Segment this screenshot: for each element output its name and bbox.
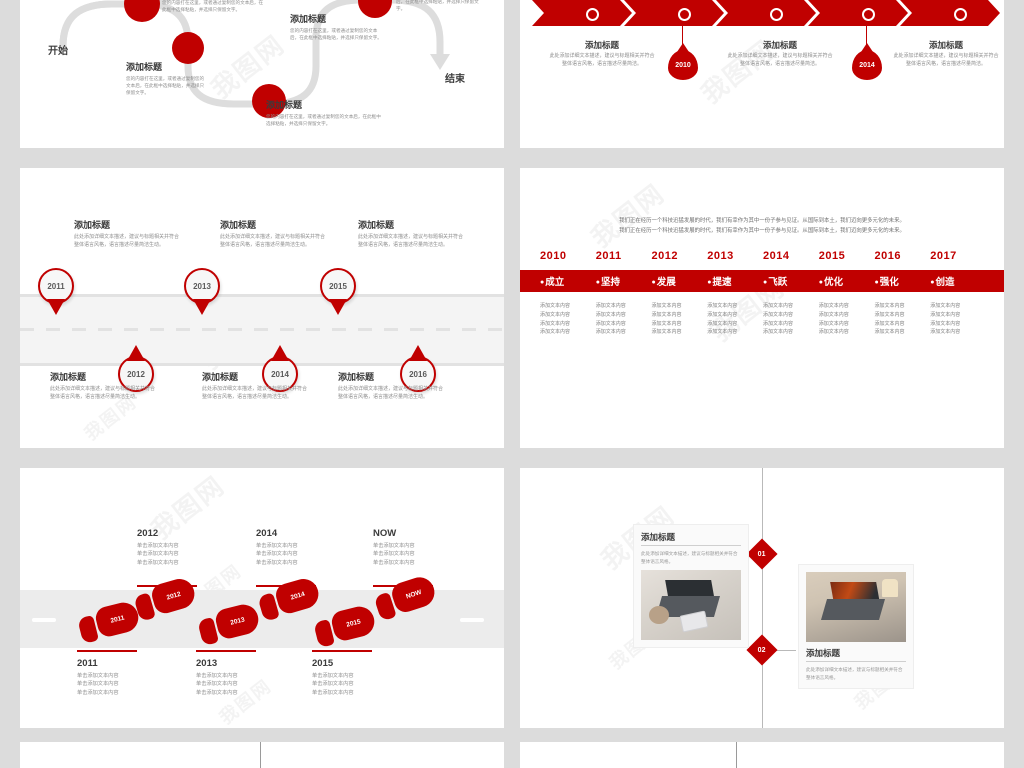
chevron-circle-icon-3 xyxy=(770,8,783,21)
content-line: 单击添加文本内容 xyxy=(312,680,376,688)
footprint-bottom-item-3[interactable]: 2015 单击添加文本内容 单击添加文本内容 单击添加文本内容 xyxy=(312,658,376,697)
node-number: 01 xyxy=(758,550,766,557)
content-line: 单击添加文本内容 xyxy=(196,672,260,680)
content-line: 添加文本内容 xyxy=(540,320,596,329)
footprint-label: 2015 xyxy=(346,618,362,628)
snake-item-body: 您的内容打在这里，或者通过复制您的文本后，在此框中选择粘贴，并选择只保留文字。 xyxy=(266,113,384,127)
content-line: 添加文本内容 xyxy=(819,311,875,320)
snake-item-title: 添加标题 xyxy=(290,14,382,25)
snake-item-body: 您的内容打在这里，或者通过复制您的文本后，在此框中选择粘贴，并选择只保留文字。 xyxy=(290,27,382,41)
content-line: 添加文本内容 xyxy=(652,328,708,337)
laptop-keyboard xyxy=(821,599,885,620)
content-line: 单击添加文本内容 xyxy=(256,559,320,567)
road-bottom-item-1[interactable]: 添加标题 此处添加详细文本描述，建议与标题相关并符合整体语言风格，语言描述尽量简… xyxy=(50,372,156,401)
pin-year-label: 2011 xyxy=(47,282,64,291)
content-column[interactable]: 添加文本内容 添加文本内容 添加文本内容 添加文本内容 xyxy=(596,302,652,337)
timeline-node-2[interactable] xyxy=(172,32,204,64)
content-line: 单击添加文本内容 xyxy=(196,689,260,697)
vertical-divider xyxy=(736,742,737,768)
content-column[interactable]: 添加文本内容 添加文本内容 添加文本内容 添加文本内容 xyxy=(819,302,875,337)
footprint-label: 2013 xyxy=(230,616,246,626)
photo-image-desk xyxy=(641,570,741,640)
chevron-column-3[interactable]: 添加标题 此处添加详细文本描述，建议与标题相关并符合整体语言风格，语言描述尽量简… xyxy=(892,40,1000,69)
photo-card-body: 此处添加详细文本描述，建议与标题相关并符合整体语言风格。 xyxy=(641,550,741,565)
content-line: 添加文本内容 xyxy=(652,302,708,311)
underline-now xyxy=(373,585,433,587)
intro-line-2: 我们正在经历一个科技迅猛发展的时代，我们有幸作为其中一份子参与见证。从国际到本土… xyxy=(540,226,984,236)
content-line: 添加文本内容 xyxy=(540,311,596,320)
slide-photo-card-timeline[interactable]: 我图网 我图网 我图网 01 02 添加标题 此处添加详细文本描述，建议与标题相… xyxy=(520,468,1004,728)
chevron-column-body: 此处添加详细文本描述，建议与标题相关并符合整体语言风格，语言描述尽量简洁。 xyxy=(892,53,1000,69)
content-line: 添加文本内容 xyxy=(596,302,652,311)
content-line: 添加文本内容 xyxy=(875,311,931,320)
year-header-row: 2010 2011 2012 2013 2014 2015 2016 2017 xyxy=(540,250,986,262)
content-line: 添加文本内容 xyxy=(875,320,931,329)
road-edge-line-top xyxy=(20,294,504,297)
content-line: 单击添加文本内容 xyxy=(312,689,376,697)
year-label: 2014 xyxy=(763,250,819,262)
keyword-label: 发展 xyxy=(657,277,676,288)
content-column[interactable]: 添加文本内容 添加文本内容 添加文本内容 添加文本内容 xyxy=(930,302,986,337)
watermark: 我图网 xyxy=(583,174,672,255)
year-label: 2015 xyxy=(819,250,875,262)
chevron-column-title: 添加标题 xyxy=(892,40,1000,50)
content-line: 单击添加文本内容 xyxy=(77,672,141,680)
slide-footprint-road-timeline[interactable]: 我图网 我图网 我图网 2011 2012 2013 xyxy=(20,468,504,728)
content-line: 添加文本内容 xyxy=(652,320,708,329)
chevron-2[interactable] xyxy=(624,0,724,26)
keyword-label: 飞跃 xyxy=(768,277,787,288)
year-label: 2014 xyxy=(256,528,320,539)
footprint-label: 2014 xyxy=(290,590,306,601)
snake-item-body: 您的内容打在这里，或者通过复制您的文本后，在此框中选择粘贴，并选择只保留文字。 xyxy=(162,0,266,13)
chevron-circle-icon-1 xyxy=(586,8,599,21)
snake-item-3[interactable]: 添加标题 您的内容打在这里，或者通过复制您的文本后，在此框中选择粘贴，并选择只保… xyxy=(266,100,384,127)
drop-marker-2014[interactable]: 2014 xyxy=(852,50,882,80)
footprint-label: NOW xyxy=(405,588,422,600)
drop-year-label: 2010 xyxy=(675,62,691,69)
timeline-vertical-line xyxy=(762,468,763,728)
photo-card-body: 此处添加详细文本描述，建议与标题相关并符合整体语言风格。 xyxy=(806,666,906,681)
keyword-cell: ●提速 xyxy=(707,274,763,288)
chevron-circle-icon-4 xyxy=(862,8,875,21)
content-line: 单击添加文本内容 xyxy=(373,542,437,550)
content-line: 添加文本内容 xyxy=(707,311,763,320)
content-line: 添加文本内容 xyxy=(596,320,652,329)
road-bottom-item-3[interactable]: 添加标题 此处添加详细文本描述，建议与标题相关并符合整体语言风格，语言描述尽量简… xyxy=(338,372,444,401)
slide-year-band-table[interactable]: 我图网 我图网 我们正在经历一个科技迅猛发展的时代，我们有幸作为其中一份子参与见… xyxy=(520,168,1004,448)
keyword-label: 强化 xyxy=(880,277,899,288)
content-line: 添加文本内容 xyxy=(930,302,986,311)
content-line: 添加文本内容 xyxy=(540,328,596,337)
keyword-cell: ●成立 xyxy=(540,274,596,288)
road-item-title: 添加标题 xyxy=(220,220,326,231)
content-line: 添加文本内容 xyxy=(540,302,596,311)
end-label: 结束 xyxy=(445,70,465,85)
keyword-label: 提速 xyxy=(712,277,731,288)
content-line: 单击添加文本内容 xyxy=(256,550,320,558)
year-label: 2016 xyxy=(875,250,931,262)
content-line: 添加文本内容 xyxy=(930,328,986,337)
slide-chevron-banner-timeline[interactable]: 我图网 2010 2014 添加标题 此处添加详细文本描述，建议与标题相关并符合… xyxy=(520,0,1004,148)
keyword-label: 坚持 xyxy=(601,277,620,288)
chevron-circle-icon-5 xyxy=(954,8,967,21)
drop-marker-2010[interactable]: 2010 xyxy=(668,50,698,80)
chevron-1[interactable] xyxy=(532,0,632,26)
content-line: 单击添加文本内容 xyxy=(137,559,201,567)
content-line: 添加文本内容 xyxy=(763,328,819,337)
keyword-cell: ●创造 xyxy=(930,274,986,288)
road-dash-left xyxy=(32,618,56,622)
content-line: 单击添加文本内容 xyxy=(312,672,376,680)
underline-2012 xyxy=(137,585,197,587)
drop-year-label: 2014 xyxy=(859,62,875,69)
footprint-top-item-2[interactable]: 2014 单击添加文本内容 单击添加文本内容 单击添加文本内容 xyxy=(256,528,320,567)
content-line: 添加文本内容 xyxy=(763,320,819,329)
content-line: 添加文本内容 xyxy=(707,328,763,337)
intro-line-1: 我们正在经历一个科技迅猛发展的时代，我们有幸作为其中一份子参与见证。从国际到本土… xyxy=(540,216,984,226)
road-dash-right xyxy=(460,618,484,622)
footprint-top-item-1[interactable]: 2012 单击添加文本内容 单击添加文本内容 单击添加文本内容 xyxy=(137,528,201,567)
keyword-cell: ●飞跃 xyxy=(763,274,819,288)
content-line: 添加文本内容 xyxy=(763,311,819,320)
footprint-bottom-item-1[interactable]: 2011 单击添加文本内容 单击添加文本内容 单击添加文本内容 xyxy=(77,658,141,697)
content-line: 添加文本内容 xyxy=(763,302,819,311)
footprint-label: 2012 xyxy=(166,590,182,601)
road-pin-2011[interactable]: 2011 xyxy=(38,268,74,304)
road-item-body: 此处添加详细文本描述，建议与标题相关并符合整体语言风格，语言描述尽量简洁生动。 xyxy=(220,234,326,250)
photo-card-title: 添加标题 xyxy=(806,648,906,662)
snake-item-title: 添加标题 xyxy=(126,62,206,73)
road-top-item-2[interactable]: 添加标题 此处添加详细文本描述，建议与标题相关并符合整体语言风格，语言描述尽量简… xyxy=(220,220,326,249)
underline-2013 xyxy=(196,650,256,652)
road-item-title: 添加标题 xyxy=(50,372,156,383)
snake-item-1[interactable]: 添加标题 您的内容打在这里，或者通过复制您的文本后，在此框中选择粘贴，并选择只保… xyxy=(162,0,266,13)
snake-item-4[interactable]: 添加标题 您的内容打在这里，或者通过复制您的文本后，在此框中选择粘贴，并选择只保… xyxy=(290,14,382,41)
content-column[interactable]: 添加文本内容 添加文本内容 添加文本内容 添加文本内容 xyxy=(540,302,596,337)
road-item-body: 此处添加详细文本描述，建议与标题相关并符合整体语言风格，语言描述尽量简洁生动。 xyxy=(358,234,464,250)
content-line: 单击添加文本内容 xyxy=(373,559,437,567)
road-item-body: 此处添加详细文本描述，建议与标题相关并符合整体语言风格，语言描述尽量简洁生动。 xyxy=(74,234,180,250)
phone-object xyxy=(679,611,708,633)
content-line: 单击添加文本内容 xyxy=(373,550,437,558)
content-column[interactable]: 添加文本内容 添加文本内容 添加文本内容 添加文本内容 xyxy=(707,302,763,337)
road-item-title: 添加标题 xyxy=(74,220,180,231)
content-line: 单击添加文本内容 xyxy=(256,542,320,550)
chevron-4[interactable] xyxy=(808,0,908,26)
chevron-column-title: 添加标题 xyxy=(726,40,834,50)
year-label: 2010 xyxy=(540,250,596,262)
year-label: 2013 xyxy=(196,658,260,669)
lamp-object xyxy=(882,579,898,597)
snake-item-title: 添加标题 xyxy=(266,100,384,111)
road-item-body: 此处添加详细文本描述，建议与标题相关并符合整体语言风格，语言描述尽量简洁生动。 xyxy=(338,386,444,402)
underline-2011 xyxy=(77,650,137,652)
road-top-item-1[interactable]: 添加标题 此处添加详细文本描述，建议与标题相关并符合整体语言风格，语言描述尽量简… xyxy=(74,220,180,249)
pin-year-label: 2015 xyxy=(329,282,347,291)
content-columns: 添加文本内容 添加文本内容 添加文本内容 添加文本内容 添加文本内容 添加文本内… xyxy=(540,302,986,337)
chevron-column-body: 此处添加详细文本描述，建议与标题相关并符合整体语言风格，语言描述尽量简洁。 xyxy=(726,53,834,69)
keyword-label: 创造 xyxy=(935,277,954,288)
content-line: 添加文本内容 xyxy=(819,320,875,329)
content-line: 添加文本内容 xyxy=(707,302,763,311)
chevron-5[interactable] xyxy=(900,0,1000,26)
photo-image-laptop xyxy=(806,572,906,642)
road-pin-2015[interactable]: 2015 xyxy=(320,268,356,304)
chevron-column-title: 添加标题 xyxy=(548,40,656,50)
diamond-node-02[interactable]: 02 xyxy=(746,634,777,665)
footprint-top-item-3[interactable]: NOW 单击添加文本内容 单击添加文本内容 单击添加文本内容 xyxy=(373,528,437,567)
slide-road-pins-timeline[interactable]: 我图网 我图网 2011 2013 2015 2012 2014 2016 添加… xyxy=(20,168,504,448)
keyword-cell: ●强化 xyxy=(875,274,931,288)
content-line: 单击添加文本内容 xyxy=(77,680,141,688)
road-item-title: 添加标题 xyxy=(358,220,464,231)
content-line: 添加文本内容 xyxy=(596,311,652,320)
slide-thumbnail-grid: 我图网 开始 结束 添加标题 您的内容打在这里，或者通过复制您的文本后，在此框中… xyxy=(0,0,1024,768)
diamond-node-01[interactable]: 01 xyxy=(746,538,777,569)
slide-partial-bottom-left[interactable] xyxy=(20,742,504,768)
year-label: 2015 xyxy=(312,658,376,669)
vertical-divider xyxy=(260,742,261,768)
footprint-label: 2011 xyxy=(110,614,125,624)
road-item-title: 添加标题 xyxy=(338,372,444,383)
keyword-cell: ●优化 xyxy=(819,274,875,288)
road-item-title: 添加标题 xyxy=(202,372,308,383)
slide-snake-path-timeline[interactable]: 我图网 开始 结束 添加标题 您的内容打在这里，或者通过复制您的文本后，在此框中… xyxy=(20,0,504,148)
content-line: 单击添加文本内容 xyxy=(137,542,201,550)
year-label: 2013 xyxy=(707,250,763,262)
snake-item-body: 您的内容打在这里，或者通过复制您的文本后，在此框中选择粘贴，并选择只保留文字。 xyxy=(126,75,206,96)
node-number: 02 xyxy=(758,646,766,653)
pin-year-label: 2013 xyxy=(193,282,211,291)
content-line: 添加文本内容 xyxy=(652,311,708,320)
keyword-cell: ●坚持 xyxy=(596,274,652,288)
slide-partial-bottom-right[interactable] xyxy=(520,742,1004,768)
underline-2015 xyxy=(312,650,372,652)
road-bottom-item-2[interactable]: 添加标题 此处添加详细文本描述，建议与标题相关并符合整体语言风格，语言描述尽量简… xyxy=(202,372,308,401)
start-label: 开始 xyxy=(48,42,68,57)
content-column[interactable]: 添加文本内容 添加文本内容 添加文本内容 添加文本内容 xyxy=(652,302,708,337)
chevron-circle-icon-2 xyxy=(678,8,691,21)
keyword-band: ●成立 ●坚持 ●发展 ●提速 ●飞跃 ●优化 ●强化 ●创造 xyxy=(520,270,1004,292)
road-center-dashed-line xyxy=(20,328,504,331)
chevron-column-body: 此处添加详细文本描述，建议与标题相关并符合整体语言风格，语言描述尽量简洁。 xyxy=(548,53,656,69)
content-line: 单击添加文本内容 xyxy=(196,680,260,688)
content-line: 添加文本内容 xyxy=(930,311,986,320)
year-label: 2017 xyxy=(930,250,986,262)
road-item-body: 此处添加详细文本描述，建议与标题相关并符合整体语言风格，语言描述尽量简洁生动。 xyxy=(50,386,156,402)
photo-card-01[interactable]: 添加标题 此处添加详细文本描述，建议与标题相关并符合整体语言风格。 xyxy=(633,524,749,648)
road-item-body: 此处添加详细文本描述，建议与标题相关并符合整体语言风格，语言描述尽量简洁生动。 xyxy=(202,386,308,402)
content-line: 添加文本内容 xyxy=(819,328,875,337)
chevron-3[interactable] xyxy=(716,0,816,26)
snake-item-5[interactable]: 添加标题 您的内容打在这里，或者通过复制您的文本后，在此框中选择粘贴，并选择只保… xyxy=(396,0,486,12)
content-line: 单击添加文本内容 xyxy=(77,689,141,697)
year-label: 2011 xyxy=(77,658,141,669)
road-pin-2013[interactable]: 2013 xyxy=(184,268,220,304)
year-label: 2011 xyxy=(596,250,652,262)
keyword-label: 成立 xyxy=(545,277,564,288)
content-line: 添加文本内容 xyxy=(875,302,931,311)
year-label: 2012 xyxy=(137,528,201,539)
chevron-column-2[interactable]: 添加标题 此处添加详细文本描述，建议与标题相关并符合整体语言风格，语言描述尽量简… xyxy=(726,40,834,69)
photo-card-02[interactable]: 添加标题 此处添加详细文本描述，建议与标题相关并符合整体语言风格。 xyxy=(798,564,914,689)
year-label: NOW xyxy=(373,528,437,539)
content-line: 添加文本内容 xyxy=(596,328,652,337)
chevron-column-1[interactable]: 添加标题 此处添加详细文本描述，建议与标题相关并符合整体语言风格，语言描述尽量简… xyxy=(548,40,656,69)
year-label: 2012 xyxy=(652,250,708,262)
road-top-item-3[interactable]: 添加标题 此处添加详细文本描述，建议与标题相关并符合整体语言风格，语言描述尽量简… xyxy=(358,220,464,249)
photo-card-title: 添加标题 xyxy=(641,532,741,546)
content-line: 添加文本内容 xyxy=(875,328,931,337)
snake-path-line xyxy=(20,0,504,148)
content-line: 添加文本内容 xyxy=(819,302,875,311)
snake-item-body: 您的内容打在这里，或者通过复制您的文本后，在此框中选择粘贴，并选择只保留文字。 xyxy=(396,0,486,12)
content-column[interactable]: 添加文本内容 添加文本内容 添加文本内容 添加文本内容 xyxy=(875,302,931,337)
content-line: 添加文本内容 xyxy=(707,320,763,329)
keyword-cell: ●发展 xyxy=(652,274,708,288)
snake-item-2[interactable]: 添加标题 您的内容打在这里，或者通过复制您的文本后，在此框中选择粘贴，并选择只保… xyxy=(126,62,206,96)
keyword-label: 优化 xyxy=(824,277,843,288)
content-column[interactable]: 添加文本内容 添加文本内容 添加文本内容 添加文本内容 xyxy=(763,302,819,337)
cup-object xyxy=(649,606,669,624)
content-line: 单击添加文本内容 xyxy=(137,550,201,558)
content-line: 添加文本内容 xyxy=(930,320,986,329)
underline-2014 xyxy=(256,585,316,587)
intro-paragraph: 我们正在经历一个科技迅猛发展的时代，我们有幸作为其中一份子参与见证。从国际到本土… xyxy=(540,216,984,236)
footprint-bottom-item-2[interactable]: 2013 单击添加文本内容 单击添加文本内容 单击添加文本内容 xyxy=(196,658,260,697)
